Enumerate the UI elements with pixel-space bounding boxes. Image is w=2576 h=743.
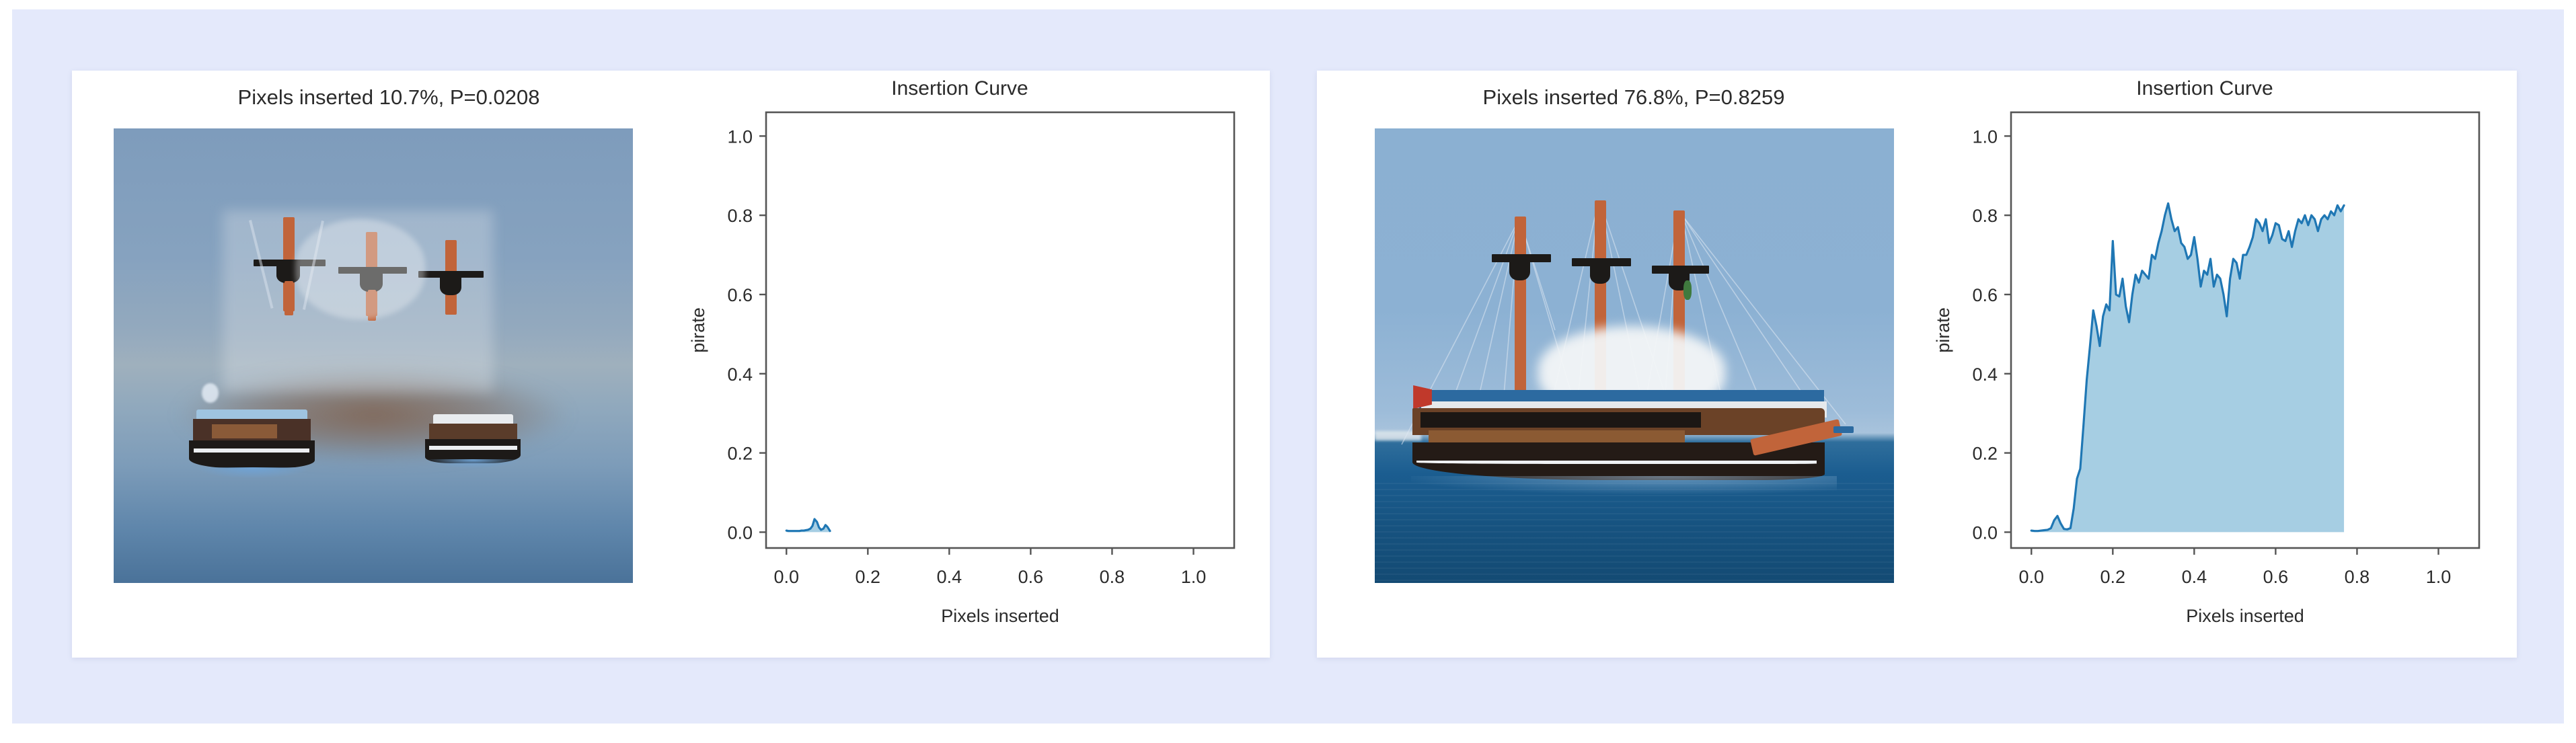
y-tick-label: 0.4 [1972,364,1998,385]
x-tick-label: 0.4 [937,567,962,587]
sea-texture [1375,483,1894,583]
x-tick-label: 0.6 [1018,567,1044,587]
revealed-hull-left [189,409,315,472]
y-tick-label: 0.4 [727,364,753,385]
x-tick-label: 0.2 [2100,567,2126,587]
y-tick-label: 1.0 [727,126,753,147]
y-tick-label: 0.6 [1972,285,1998,305]
y-tick-label: 0.6 [727,285,753,305]
x-tick-label: 1.0 [1181,567,1207,587]
x-axis-label: Pixels inserted [941,606,1059,626]
ship-hull [1412,408,1825,483]
right-image-block: Pixels inserted 76.8%, P=0.8259 [1338,85,1930,617]
x-tick-label: 1.0 [2426,567,2452,587]
x-tick-label: 0.6 [2263,567,2289,587]
right-chart-block: Insertion Curve 0.00.20.40.60.81.00.00.2… [1909,77,2501,642]
y-tick-label: 0.8 [1972,206,1998,226]
y-axis-label: pirate [688,307,708,353]
x-tick-label: 0.8 [2345,567,2370,587]
insertion-curve-chart-right: 0.00.20.40.60.81.00.00.20.40.60.81.0Pixe… [1909,77,2501,642]
revealed-sail-patch [295,219,425,319]
revealed-speck [202,383,219,403]
y-tick-label: 0.2 [1972,444,1998,464]
x-tick-label: 0.0 [773,567,799,587]
insertion-curve-chart-left: 0.00.20.40.60.81.00.00.20.40.60.81.0Pixe… [664,77,1256,642]
left-image-block: Pixels inserted 10.7%, P=0.0208 [93,85,685,617]
left-chart-block: Insertion Curve 0.00.20.40.60.81.00.00.2… [664,77,1256,642]
x-axis-label: Pixels inserted [2186,606,2304,626]
x-tick-label: 0.4 [2182,567,2207,587]
screenshot-root: Pixels inserted 10.7%, P=0.0208 [0,0,2576,743]
right-image-title: Pixels inserted 76.8%, P=0.8259 [1338,85,1930,110]
y-tick-label: 0.2 [727,444,753,464]
left-image-title: Pixels inserted 10.7%, P=0.0208 [93,85,685,110]
x-tick-label: 0.2 [856,567,881,587]
y-tick-label: 0.0 [1972,522,1998,543]
pirate-ship-partial-insertion-image [114,128,633,583]
revealed-hull-right [425,414,521,467]
y-tick-label: 1.0 [1972,126,1998,147]
x-tick-label: 0.0 [2018,567,2044,587]
y-tick-label: 0.8 [727,206,753,226]
y-axis-label: pirate [1933,307,1953,353]
insertion-panel-left: Pixels inserted 10.7%, P=0.0208 [72,71,1270,658]
y-tick-label: 0.0 [727,522,753,543]
x-tick-label: 0.8 [1100,567,1125,587]
pirate-ship-mostly-inserted-image [1375,128,1894,583]
insertion-panel-right: Pixels inserted 76.8%, P=0.8259 [1317,71,2517,658]
